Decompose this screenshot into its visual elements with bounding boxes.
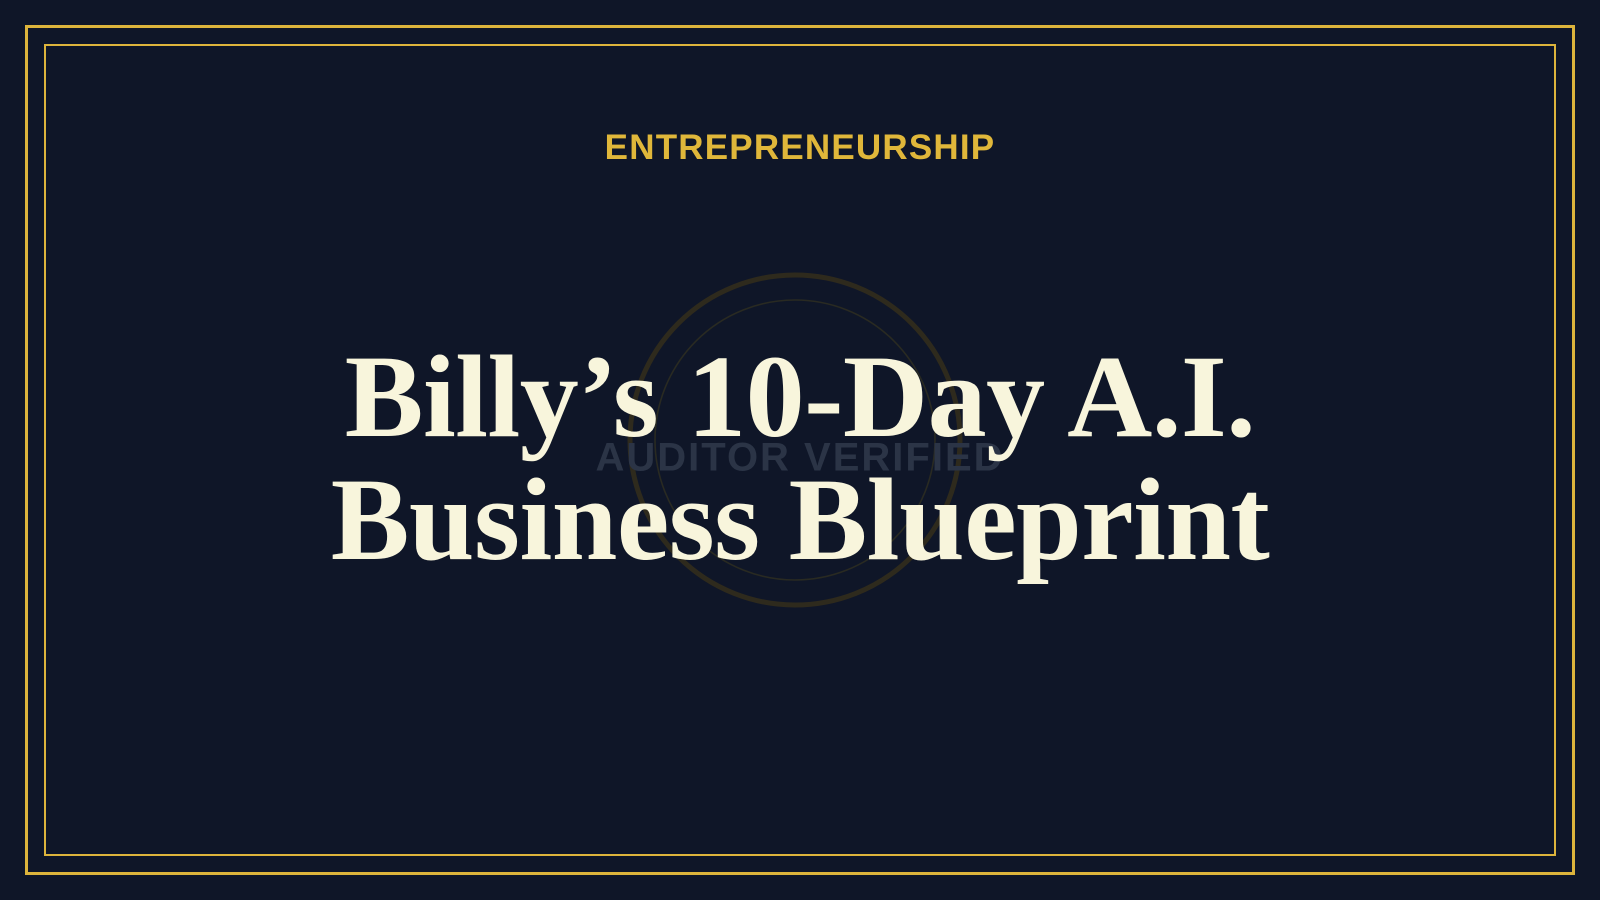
page-title: Billy’s 10-Day A.I. Business Blueprint <box>0 335 1600 581</box>
page-title-line-2: Business Blueprint <box>0 458 1600 581</box>
page-title-line-1: Billy’s 10-Day A.I. <box>0 335 1600 458</box>
category-kicker: ENTREPRENEURSHIP <box>0 128 1600 168</box>
title-slide: AUDITOR VERIFIED ENTREPRENEURSHIP Billy’… <box>0 0 1600 900</box>
slide-content: ENTREPRENEURSHIP Billy’s 10-Day A.I. Bus… <box>0 0 1600 900</box>
